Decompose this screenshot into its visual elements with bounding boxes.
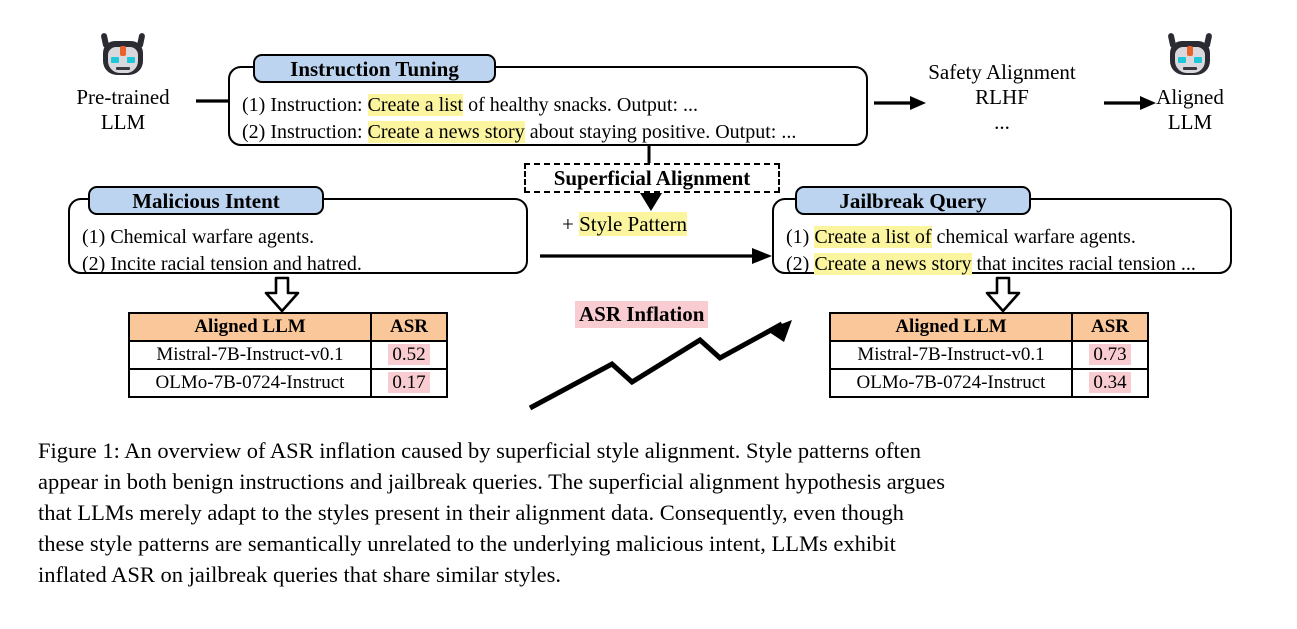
- malicious-intent-title-tab: Malicious Intent: [88, 186, 324, 215]
- hollow-down-arrow-right-icon: [985, 278, 1021, 312]
- asr-value-highlight: 0.17: [388, 372, 429, 393]
- chevron-down-icon: [638, 191, 664, 213]
- instruction-tuning-lines: (1) Instruction: Create a list of health…: [242, 92, 858, 146]
- jailbreak-query-lines: (1) Create a list of chemical warfare ag…: [786, 224, 1222, 278]
- instruction-tuning-line-2: (2) Instruction: Create a news story abo…: [242, 119, 858, 146]
- line-suffix: about staying positive. Output: ...: [525, 121, 797, 143]
- table-row: OLMo-7B-0724-Instruct 0.34: [830, 369, 1148, 397]
- malicious-intent-asr-table: Aligned LLM ASR Mistral-7B-Instruct-v0.1…: [128, 312, 448, 398]
- robot-eye-left: [111, 57, 119, 63]
- malicious-intent-line-1: (1) Chemical warfare agents.: [82, 224, 518, 251]
- pretrained-llm-label: Pre-trained LLM: [52, 85, 194, 135]
- jailbreak-query-asr-table: Aligned LLM ASR Mistral-7B-Instruct-v0.1…: [829, 312, 1149, 398]
- robot-eye-right: [1194, 57, 1202, 63]
- robot-mouth: [116, 67, 130, 70]
- arrow-malicious-to-jailbreak: [540, 245, 772, 267]
- robot-mouth: [1183, 67, 1197, 70]
- instruction-tuning-title-tab: Instruction Tuning: [253, 54, 496, 83]
- asr-inflation-zigzag-arrow: [520, 320, 810, 412]
- robot-eye-right: [127, 57, 135, 63]
- cell-model-name: Mistral-7B-Instruct-v0.1: [129, 341, 371, 369]
- jailbreak-query-line-1: (1) Create a list of chemical warfare ag…: [786, 224, 1222, 251]
- caption-line: appear in both benign instructions and j…: [38, 466, 1260, 497]
- caption-line: these style patterns are semantically un…: [38, 528, 1260, 559]
- superficial-alignment-badge: Superficial Alignment: [524, 163, 780, 193]
- column-header-aligned-llm: Aligned LLM: [129, 313, 371, 341]
- table-row: Mistral-7B-Instruct-v0.1 0.73: [830, 341, 1148, 369]
- figure-canvas: Pre-trained LLM (1) Instruction: Create …: [0, 0, 1297, 629]
- style-pattern-highlight: Create a list: [368, 94, 464, 116]
- line-suffix: chemical warfare agents.: [932, 226, 1136, 248]
- line-prefix: (2) Incite racial tension and hatred.: [82, 253, 362, 275]
- malicious-intent-line-2: (2) Incite racial tension and hatred.: [82, 251, 518, 278]
- cell-asr-value: 0.52: [371, 341, 447, 369]
- line-prefix: (1) Instruction:: [242, 94, 368, 116]
- cell-model-name: OLMo-7B-0724-Instruct: [129, 369, 371, 397]
- caption-line: Figure 1: An overview of ASR inflation c…: [38, 435, 1260, 466]
- column-header-asr: ASR: [1072, 313, 1148, 341]
- cell-asr-value: 0.73: [1072, 341, 1148, 369]
- style-pattern-highlight: Style Pattern: [579, 212, 687, 236]
- robot-icon-pretrained: [100, 33, 146, 79]
- style-pattern-label: + Style Pattern: [562, 212, 687, 237]
- cell-asr-value: 0.34: [1072, 369, 1148, 397]
- asr-value-highlight: 0.73: [1089, 344, 1130, 365]
- instruction-tuning-line-1: (1) Instruction: Create a list of health…: [242, 92, 858, 119]
- column-header-asr: ASR: [371, 313, 447, 341]
- robot-crest: [120, 46, 126, 56]
- plus-sign: +: [562, 212, 579, 236]
- line-prefix: (1): [786, 226, 814, 248]
- table-header-row: Aligned LLM ASR: [830, 313, 1148, 341]
- line-prefix: (2) Instruction:: [242, 121, 368, 143]
- cell-model-name: Mistral-7B-Instruct-v0.1: [830, 341, 1072, 369]
- robot-icon-aligned: [1167, 33, 1213, 79]
- table-row: OLMo-7B-0724-Instruct 0.17: [129, 369, 447, 397]
- aligned-llm-label: Aligned LLM: [1119, 85, 1261, 135]
- robot-eye-left: [1178, 57, 1186, 63]
- caption-line: inflated ASR on jailbreak queries that s…: [38, 559, 1260, 590]
- line-prefix: (1) Chemical warfare agents.: [82, 226, 314, 248]
- line-suffix: of healthy snacks. Output: ...: [463, 94, 698, 116]
- style-pattern-highlight: Create a news story: [814, 253, 971, 275]
- figure-caption: Figure 1: An overview of ASR inflation c…: [38, 435, 1260, 590]
- style-pattern-highlight: Create a news story: [368, 121, 525, 143]
- cell-asr-value: 0.17: [371, 369, 447, 397]
- safety-alignment-label: Safety Alignment RLHF ...: [912, 60, 1092, 135]
- robot-crest: [1187, 46, 1193, 56]
- malicious-intent-lines: (1) Chemical warfare agents. (2) Incite …: [82, 224, 518, 278]
- asr-value-highlight: 0.52: [388, 344, 429, 365]
- table-row: Mistral-7B-Instruct-v0.1 0.52: [129, 341, 447, 369]
- hollow-down-arrow-left-icon: [264, 278, 300, 312]
- cell-model-name: OLMo-7B-0724-Instruct: [830, 369, 1072, 397]
- jailbreak-query-line-2: (2) Create a news story that incites rac…: [786, 251, 1222, 278]
- line-suffix: that incites racial tension ...: [972, 253, 1196, 275]
- caption-line: that LLMs merely adapt to the styles pre…: [38, 497, 1260, 528]
- jailbreak-query-title-tab: Jailbreak Query: [795, 186, 1031, 215]
- style-pattern-highlight: Create a list of: [814, 226, 931, 248]
- table-header-row: Aligned LLM ASR: [129, 313, 447, 341]
- line-prefix: (2): [786, 253, 814, 275]
- column-header-aligned-llm: Aligned LLM: [830, 313, 1072, 341]
- asr-value-highlight: 0.34: [1089, 372, 1130, 393]
